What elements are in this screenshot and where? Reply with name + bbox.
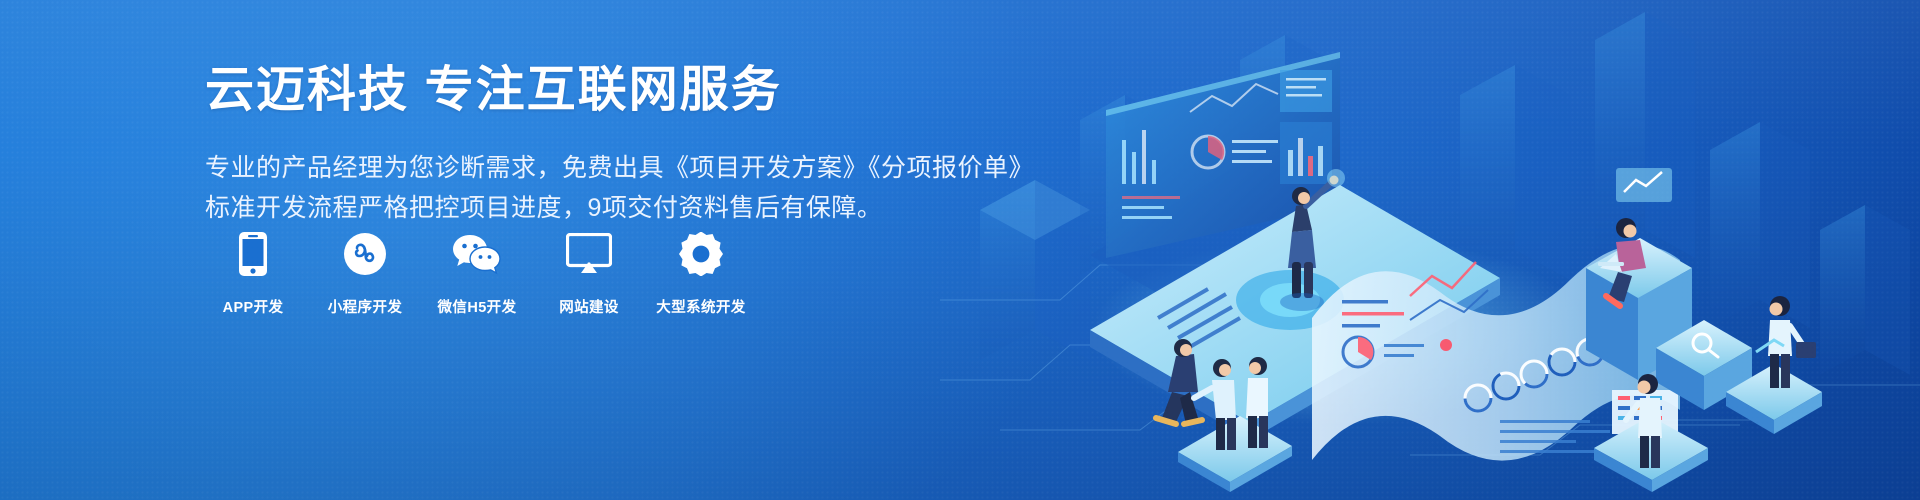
subtitle-line-2: 标准开发流程严格把控项目进度，9项交付资料售后有保障。	[205, 188, 965, 229]
isometric-illustration	[940, 0, 1920, 500]
service-label-wechat-h5: 微信H5开发	[438, 296, 517, 317]
service-item-website[interactable]: 网站建设	[541, 228, 637, 317]
page-title: 云迈科技 专注互联网服务	[205, 62, 965, 120]
floating-chart-card	[1616, 168, 1672, 202]
wechat-icon	[452, 228, 502, 280]
monitor-icon	[566, 228, 612, 280]
service-label-large-system: 大型系统开发	[656, 296, 745, 317]
service-label-app: APP开发	[223, 296, 284, 317]
service-item-app[interactable]: APP开发	[205, 228, 301, 317]
service-item-large-system[interactable]: 大型系统开发	[653, 228, 749, 317]
service-label-website: 网站建设	[559, 296, 619, 317]
service-label-mini-program: 小程序开发	[328, 296, 403, 317]
service-item-mini-program[interactable]: 小程序开发	[317, 228, 413, 317]
gear-icon	[679, 228, 723, 280]
service-list: APP开发 小程序开发	[205, 228, 749, 317]
subtitle-line-1: 专业的产品经理为您诊断需求，免费出具《项目开发方案》《分项报价单》	[205, 148, 965, 189]
mobile-phone-icon	[238, 228, 268, 280]
hero-banner: 云迈科技 专注互联网服务 专业的产品经理为您诊断需求，免费出具《项目开发方案》《…	[0, 0, 1920, 500]
banner-subtitle: 专业的产品经理为您诊断需求，免费出具《项目开发方案》《分项报价单》 标准开发流程…	[205, 148, 965, 229]
service-item-wechat-h5[interactable]: 微信H5开发	[429, 228, 525, 317]
mini-program-icon	[343, 228, 387, 280]
banner-content: 云迈科技 专注互联网服务 专业的产品经理为您诊断需求，免费出具《项目开发方案》《…	[205, 62, 965, 229]
